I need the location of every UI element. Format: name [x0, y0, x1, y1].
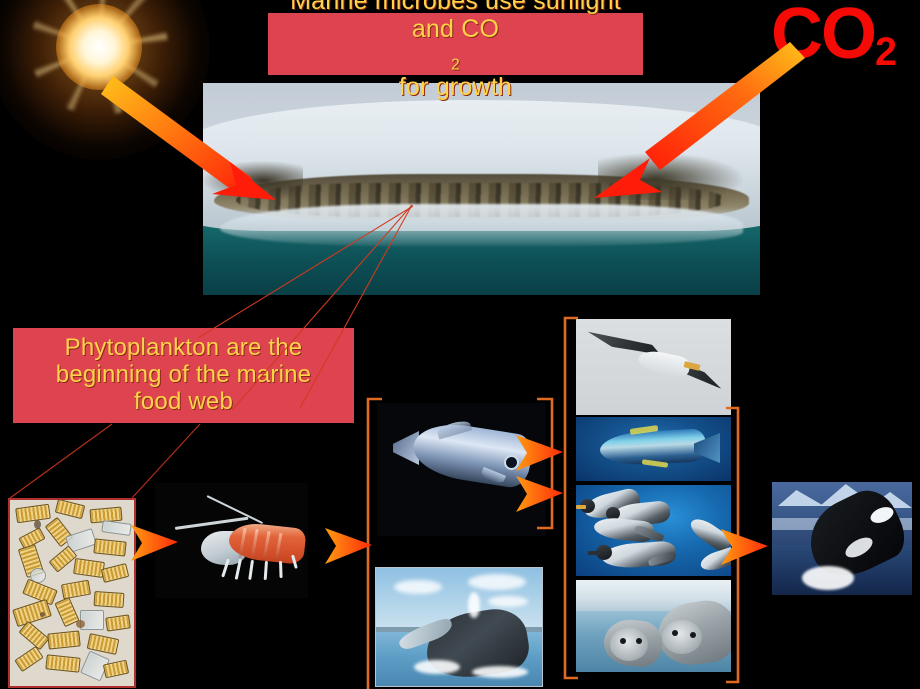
co2-subscript-inline: 2: [451, 56, 460, 73]
sea-ice-photo: [203, 83, 760, 295]
co2-label: CO2: [771, 0, 897, 73]
penguins-photo: [576, 485, 731, 576]
fish-eye: [506, 457, 517, 468]
ice-foam: [220, 204, 744, 246]
sun-core: [56, 4, 142, 90]
ice-shadow-left: [203, 161, 303, 199]
tuna-photo: [576, 417, 731, 481]
caption-left-line2: beginning of the marine: [13, 362, 354, 389]
caption-top-line1: Marine microbes use sunlight: [268, 0, 643, 15]
humpback-whale-photo: [375, 567, 543, 687]
ice-shadow-right: [598, 153, 743, 200]
caption-top-line2: and CO2 for growth: [268, 15, 643, 102]
arrow-krill-to-fishgroup: [325, 528, 372, 564]
slide-canvas: Marine microbes use sunlight and CO2 for…: [0, 0, 920, 689]
fish-body: [410, 418, 535, 490]
humpback-spray: [468, 592, 480, 618]
caption-left-line1: Phytoplankton are the: [13, 335, 354, 362]
sun-rays: [30, 0, 168, 116]
caption-phytoplankton: Phytoplankton are the beginning of the m…: [13, 328, 354, 423]
co2-sub: 2: [875, 30, 897, 74]
orca-splash: [802, 566, 854, 590]
krill-photo: [155, 483, 308, 598]
seal-face-right: [662, 620, 702, 654]
caption-top: Marine microbes use sunlight and CO2 for…: [268, 13, 643, 75]
diatom-micrograph: [8, 498, 136, 688]
seal-face-left: [610, 628, 648, 661]
orca-photo: [772, 482, 912, 595]
sun-outer-glow: [0, 0, 210, 160]
seals-photo: [576, 580, 731, 672]
caption-left-line3: food web: [13, 389, 354, 416]
silverfish-photo: [377, 403, 546, 536]
co2-text: CO: [771, 0, 875, 74]
albatross-photo: [576, 319, 731, 415]
